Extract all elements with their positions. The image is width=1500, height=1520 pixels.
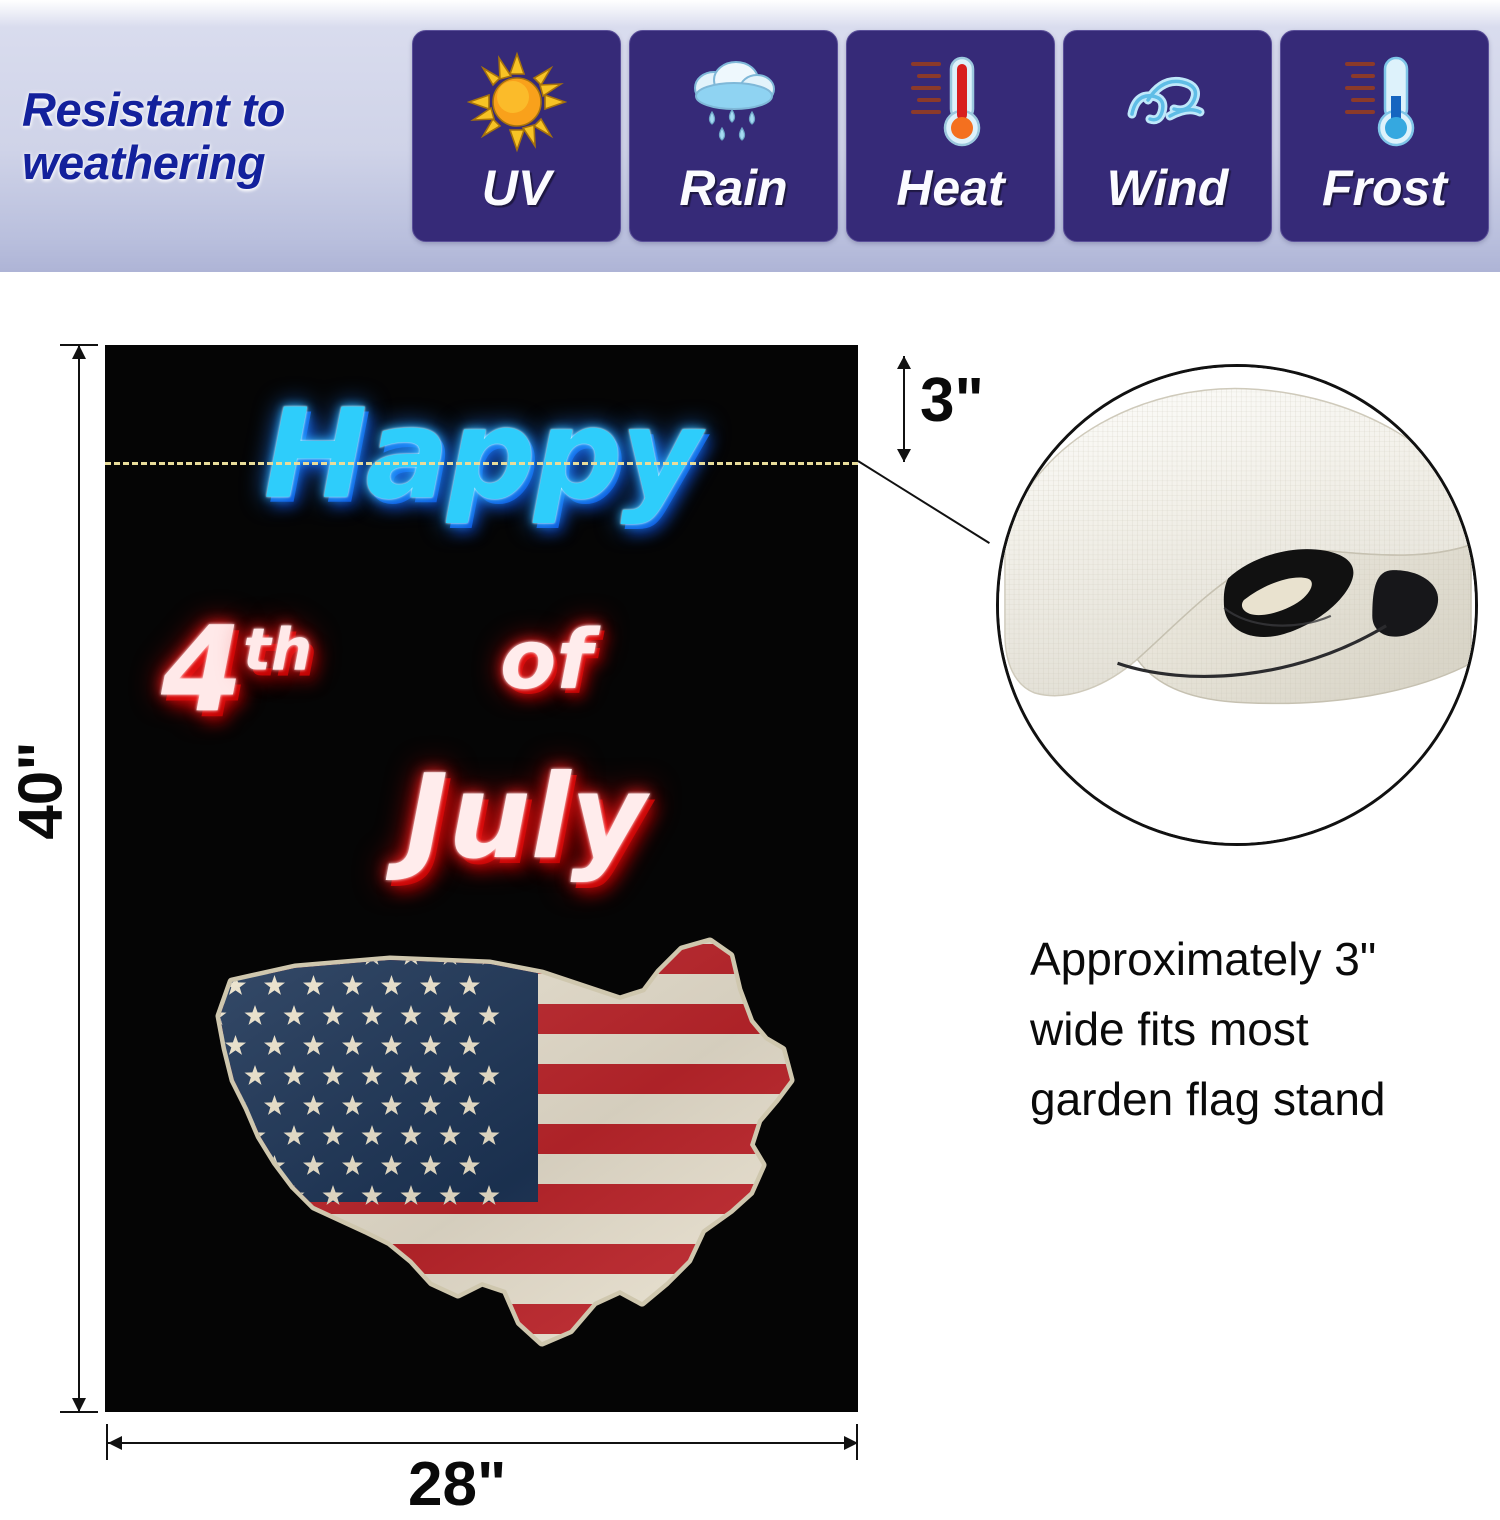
width-dimension-cap-right: [856, 1424, 858, 1460]
hem-dashed-line: [105, 462, 858, 465]
header-title-line2: weathering: [22, 136, 400, 189]
badge-frost: Frost: [1280, 30, 1489, 242]
height-dimension-line: [78, 345, 80, 1412]
sleeve-photo-illustration: [999, 367, 1475, 843]
sleeve-caption-line1: Approximately 3": [1030, 925, 1480, 995]
height-dimension-cap-top: [60, 344, 98, 346]
header-title: Resistant to weathering: [0, 83, 400, 189]
flag-text-ordinal: th: [243, 616, 312, 684]
usa-map-flag: [190, 930, 830, 1350]
weather-badge-row: UV: [412, 30, 1489, 242]
sleeve-dimension-line: [903, 356, 905, 462]
sleeve-caption-line2: wide fits most: [1030, 995, 1480, 1065]
sleeve-label: 3": [920, 365, 984, 436]
flag-text-july: July: [405, 750, 646, 885]
badge-frost-label: Frost: [1322, 163, 1447, 213]
badge-rain: Rain: [629, 30, 838, 242]
badge-uv-label: UV: [482, 163, 551, 213]
hot-thermometer-icon: [901, 43, 1001, 161]
badge-wind-label: Wind: [1107, 163, 1229, 213]
callout-leader-line: [857, 460, 990, 544]
badge-rain-label: Rain: [679, 163, 787, 213]
height-label: 40": [6, 741, 77, 839]
badge-wind: Wind: [1063, 30, 1272, 242]
badge-uv: UV: [412, 30, 621, 242]
badge-heat: Heat: [846, 30, 1055, 242]
wind-icon: [1118, 43, 1218, 161]
width-dimension-cap-left: [106, 1424, 108, 1460]
flag-text-of: of: [500, 613, 592, 708]
sleeve-caption-line3: garden flag stand: [1030, 1065, 1480, 1135]
flag-text-happy: Happy: [264, 383, 700, 527]
garden-flag-product-image: Happy 4th of July: [105, 345, 858, 1412]
cold-thermometer-icon: [1335, 43, 1435, 161]
width-dimension-line: [108, 1442, 858, 1444]
flag-text-fourth: 4th: [161, 600, 312, 738]
sun-icon: [467, 43, 567, 161]
flag-text-number: 4: [161, 600, 243, 738]
weather-resistance-header: Resistant to weathering: [0, 0, 1500, 272]
rain-cloud-icon: [684, 43, 784, 161]
flag-sleeve-closeup: [996, 364, 1478, 846]
width-label: 28": [408, 1449, 506, 1520]
sleeve-caption: Approximately 3" wide fits most garden f…: [1030, 925, 1480, 1135]
badge-heat-label: Heat: [896, 163, 1004, 213]
height-dimension-cap-bottom: [60, 1411, 98, 1413]
header-title-line1: Resistant to: [22, 83, 400, 136]
